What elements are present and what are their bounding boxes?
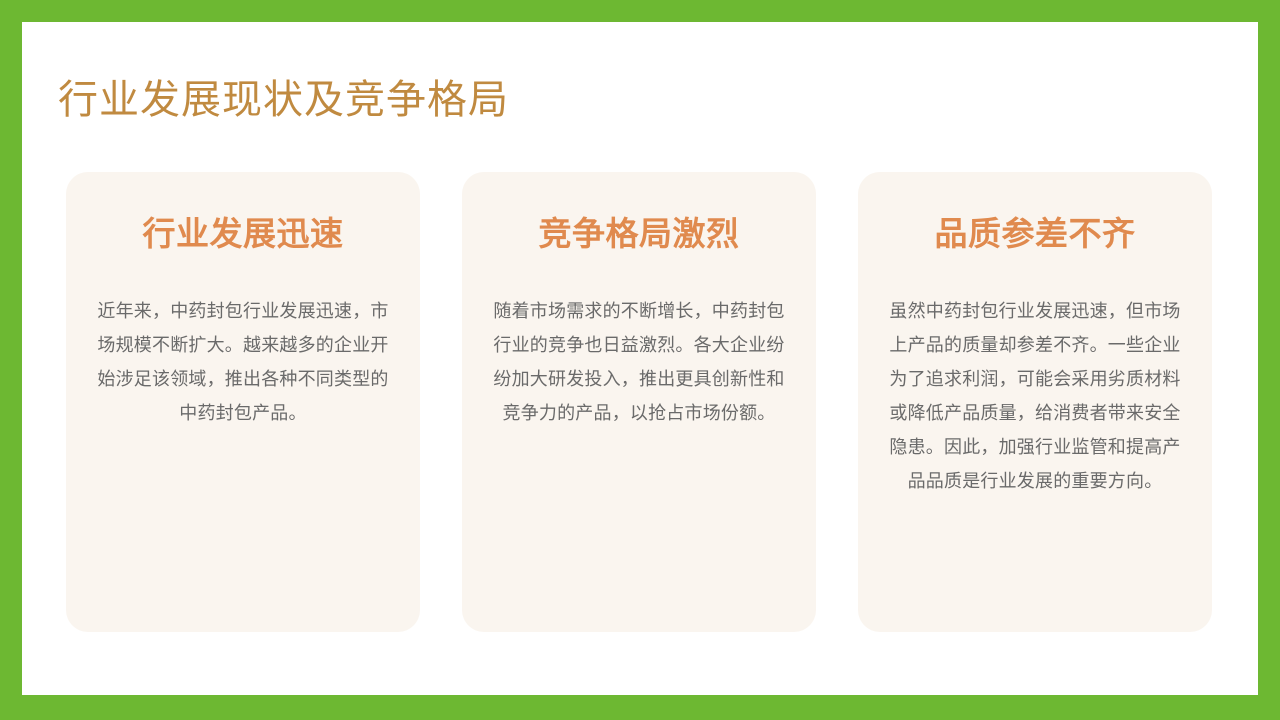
content-card-2[interactable]: 竞争格局激烈 随着市场需求的不断增长，中药封包行业的竞争也日益激烈。各大企业纷纷…: [462, 172, 816, 632]
page-title: 行业发展现状及竞争格局: [58, 76, 509, 124]
content-card-3[interactable]: 品质参差不齐 虽然中药封包行业发展迅速，但市场上产品的质量却参差不齐。一些企业为…: [858, 172, 1212, 632]
card-body-text: 虽然中药封包行业发展迅速，但市场上产品的质量却参差不齐。一些企业为了追求利润，可…: [885, 294, 1185, 498]
card-row: 行业发展迅速 近年来，中药封包行业发展迅速，市场规模不断扩大。越来越多的企业开始…: [66, 172, 1212, 632]
slide-root: 行业发展现状及竞争格局 行业发展迅速 近年来，中药封包行业发展迅速，市场规模不断…: [0, 0, 1280, 720]
card-body-text: 随着市场需求的不断增长，中药封包行业的竞争也日益激烈。各大企业纷纷加大研发投入，…: [489, 294, 789, 430]
card-title: 行业发展迅速: [143, 214, 344, 254]
slide-canvas: 行业发展现状及竞争格局 行业发展迅速 近年来，中药封包行业发展迅速，市场规模不断…: [22, 22, 1258, 695]
card-title: 品质参差不齐: [935, 214, 1136, 254]
card-title: 竞争格局激烈: [539, 214, 740, 254]
card-body-text: 近年来，中药封包行业发展迅速，市场规模不断扩大。越来越多的企业开始涉足该领域，推…: [93, 294, 393, 430]
content-card-1[interactable]: 行业发展迅速 近年来，中药封包行业发展迅速，市场规模不断扩大。越来越多的企业开始…: [66, 172, 420, 632]
